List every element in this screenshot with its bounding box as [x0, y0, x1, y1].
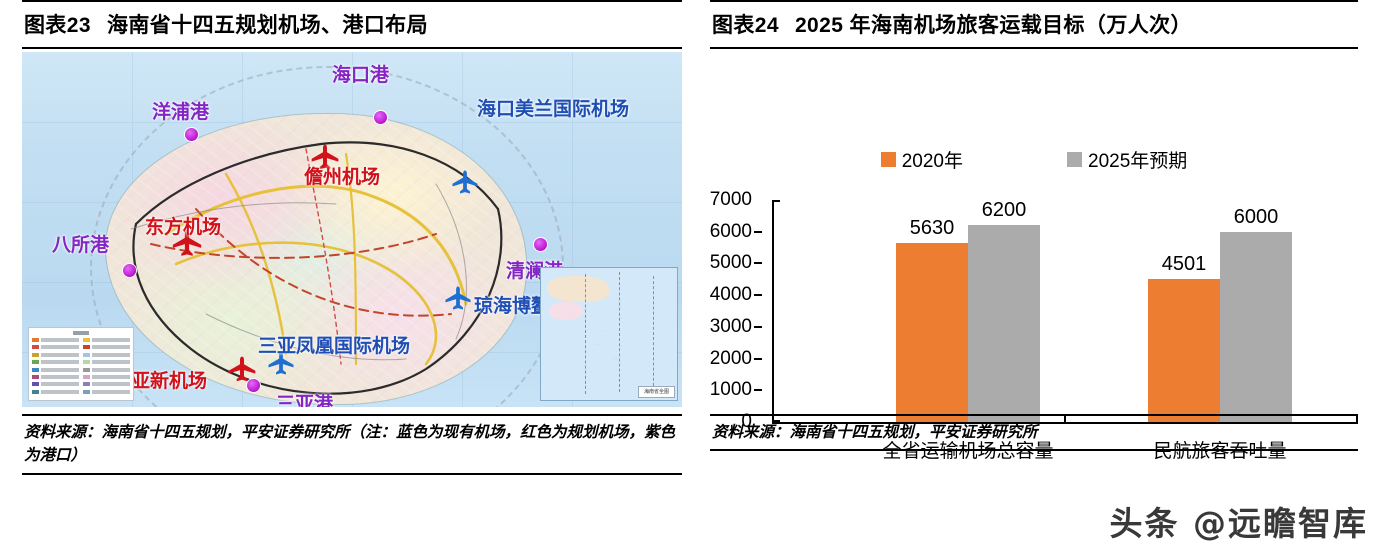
- figure-23-body: 海口港 洋浦港 八所港 清澜港 三亚港 海口美兰国际机场 琼海博鳌机场 三亚凤凰…: [22, 52, 682, 452]
- inset-mainland-shape: [547, 276, 609, 302]
- figure-24-source-note: 资料来源：海南省十四五规划，平安证券研究所: [710, 414, 1358, 451]
- chart-plot-area: 7000 6000 5000 4000 3000 2000 1000 0: [772, 200, 1358, 450]
- legend-label-2020: 2020年: [902, 146, 963, 173]
- map-label-yangpu-port: 洋浦港: [152, 97, 209, 124]
- port-pin-yangpu: [185, 128, 198, 141]
- figure-23-header: 图表23海南省十四五规划机场、港口布局: [22, 0, 682, 49]
- bar-2020-total-capacity[interactable]: 5630: [896, 243, 968, 422]
- bar-value-label-5630: 5630: [910, 217, 955, 240]
- bar-2025-total-capacity[interactable]: 6200: [968, 225, 1040, 422]
- page-root: 图表23海南省十四五规划机场、港口布局: [0, 0, 1376, 547]
- figure-24-body: 2020年 2025年预期 7000 6000 5000 4000: [710, 52, 1358, 452]
- y-tick-label-6000: 6000: [710, 221, 752, 243]
- inset-hainan-shape: [549, 302, 583, 320]
- y-tick-label-2000: 2000: [710, 348, 752, 370]
- figure-23-number: 图表23: [24, 14, 91, 37]
- figure-23-source-note: 资料来源：海南省十四五规划，平安证券研究所（注：蓝色为现有机场，红色为规划机场，…: [22, 414, 682, 475]
- inset-caption: 海南省全图: [638, 386, 675, 398]
- map-inset-south-china-sea: · · · ·· ·· · ··· 海南省全图: [540, 267, 678, 401]
- y-tick-label-1000: 1000: [710, 379, 752, 401]
- hainan-map-image: 海口港 洋浦港 八所港 清澜港 三亚港 海口美兰国际机场 琼海博鳌机场 三亚凤凰…: [22, 52, 682, 407]
- watermark: 头条 @远瞻智库: [1110, 497, 1369, 545]
- figure-24-title: 2025 年海南机场旅客运载目标（万人次）: [795, 14, 1192, 37]
- y-tick-label-3000: 3000: [710, 316, 752, 338]
- map-label-danzhou-airport: 儋州机场: [304, 162, 380, 189]
- port-pin-haikou: [374, 111, 387, 124]
- airport-icon-qionghai-boao: [442, 284, 474, 314]
- map-label-haikou-meilan-airport: 海口美兰国际机场: [477, 94, 629, 121]
- map-legend-column-right: [83, 337, 130, 396]
- y-tick-label-4000: 4000: [710, 284, 752, 306]
- map-legend-header: [73, 331, 89, 335]
- map-legend-box: [28, 327, 134, 401]
- map-label-dongfang-airport: 东方机场: [145, 212, 221, 239]
- airport-icon-sanya-new: [225, 354, 259, 386]
- chart-y-axis: 7000 6000 5000 4000 3000 2000 1000 0: [710, 200, 768, 422]
- legend-swatch-2025: [1067, 152, 1082, 167]
- map-label-haikou-port: 海口港: [332, 60, 389, 87]
- map-legend-column-left: [32, 337, 79, 396]
- bar-value-label-4501: 4501: [1162, 253, 1207, 276]
- bar-2025-passenger-throughput[interactable]: 6000: [1220, 232, 1292, 422]
- port-pin-qinglan: [534, 238, 547, 251]
- figure-panel-23: 图表23海南省十四五规划机场、港口布局: [22, 0, 682, 547]
- figure-24-number: 图表24: [712, 14, 779, 37]
- figure-23-source-text: 资料来源：海南省十四五规划，平安证券研究所（注：蓝色为现有机场，红色为规划机场，…: [24, 424, 675, 464]
- map-label-sanya-port: 三亚港: [276, 389, 333, 407]
- chart-legend: 2020年 2025年预期: [710, 146, 1358, 173]
- legend-label-2025: 2025年预期: [1088, 146, 1187, 173]
- chart-bars: 5630 6200 4501 6000: [772, 200, 1358, 422]
- figure-23-title: 海南省十四五规划机场、港口布局: [107, 14, 428, 37]
- y-tick-label-7000: 7000: [710, 189, 752, 211]
- legend-item-2025[interactable]: 2025年预期: [1067, 146, 1187, 173]
- legend-item-2020[interactable]: 2020年: [881, 146, 963, 173]
- figure-24-source-text: 资料来源：海南省十四五规划，平安证券研究所: [712, 424, 1038, 441]
- port-pin-basuo: [123, 264, 136, 277]
- map-label-basuo-port: 八所港: [52, 230, 109, 257]
- legend-swatch-2020: [881, 152, 896, 167]
- map-label-sanya-phoenix-airport: 三亚凤凰国际机场: [258, 331, 410, 358]
- bar-value-label-6000: 6000: [1234, 206, 1279, 229]
- bar-2020-passenger-throughput[interactable]: 4501: [1148, 279, 1220, 422]
- airport-icon-haikou-meilan: [449, 168, 481, 198]
- figure-24-header: 图表242025 年海南机场旅客运载目标（万人次）: [710, 0, 1358, 49]
- figure-panel-24: 图表242025 年海南机场旅客运载目标（万人次） 2020年 2025年预期: [710, 0, 1358, 547]
- bar-value-label-6200: 6200: [982, 199, 1027, 222]
- y-tick-label-5000: 5000: [710, 252, 752, 274]
